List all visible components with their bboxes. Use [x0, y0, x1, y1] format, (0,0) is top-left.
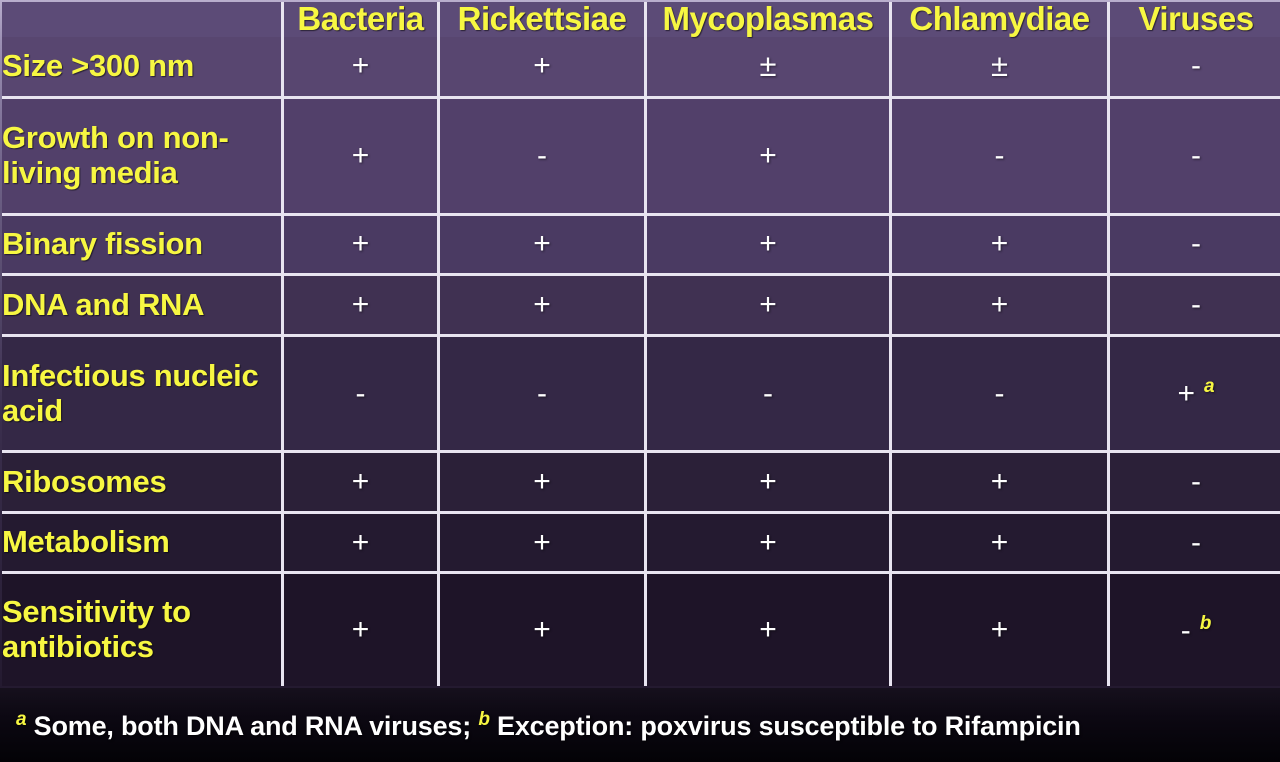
- footnote-marker-a: a: [16, 709, 26, 730]
- mark-value: -: [537, 139, 547, 172]
- cell-size-bacteria: +: [284, 37, 440, 100]
- mark-value: -: [356, 377, 366, 410]
- mark-value: +: [991, 613, 1009, 646]
- cell-size-viruses: -: [1110, 37, 1280, 100]
- mark-value: +: [759, 288, 777, 321]
- cell-dna-rna-viruses: -: [1110, 276, 1280, 337]
- footnote-ref-b: b: [1200, 613, 1212, 634]
- row-label-ribosomes: Ribosomes: [2, 453, 284, 514]
- row-label-size: Size >300 nm: [2, 37, 284, 100]
- cell-metabolism-chlamydiae: +: [892, 514, 1110, 575]
- mark-value: +: [533, 465, 551, 498]
- mark-value: +: [352, 288, 370, 321]
- cell-metabolism-rickettsiae: +: [440, 514, 647, 575]
- cell-size-rickettsiae: +: [440, 37, 647, 100]
- cell-binary-fission-chlamydiae: +: [892, 216, 1110, 277]
- cell-growth-bacteria: +: [284, 99, 440, 215]
- mark-value: -: [1191, 465, 1201, 498]
- cell-infectious-na-viruses: +a: [1110, 337, 1280, 453]
- mark-value: +: [759, 227, 777, 260]
- cell-infectious-na-bacteria: -: [284, 337, 440, 453]
- mark-value: +: [352, 465, 370, 498]
- cell-ribosomes-chlamydiae: +: [892, 453, 1110, 514]
- cell-dna-rna-chlamydiae: +: [892, 276, 1110, 337]
- mark-value: +: [352, 49, 370, 82]
- mark-value: ±: [991, 48, 1008, 83]
- mark-value: +: [759, 139, 777, 172]
- cell-sensitivity-bacteria: +: [284, 574, 440, 686]
- cell-growth-viruses: -: [1110, 99, 1280, 215]
- mark-value: +: [991, 227, 1009, 260]
- mark-value: -: [1191, 526, 1201, 559]
- footnote-ref-a: a: [1204, 376, 1215, 397]
- cell-sensitivity-viruses: -b: [1110, 574, 1280, 686]
- row-label-infectious-nucleic-acid: Infectious nucleic acid: [2, 337, 284, 453]
- cell-sensitivity-mycoplasmas: +: [647, 574, 892, 686]
- comparison-table-container: Bacteria Rickettsiae Mycoplasmas Chlamyd…: [0, 0, 1280, 688]
- column-header-bacteria: Bacteria: [284, 2, 440, 37]
- row-label-metabolism: Metabolism: [2, 514, 284, 575]
- cell-binary-fission-bacteria: +: [284, 216, 440, 277]
- mark-value: +: [352, 139, 370, 172]
- mark-value: -: [1191, 49, 1201, 82]
- mark-value: +: [991, 526, 1009, 559]
- mark-value: +: [991, 465, 1009, 498]
- cell-infectious-na-chlamydiae: -: [892, 337, 1110, 453]
- row-label-sensitivity-to-antibiotics: Sensitivity to antibiotics: [2, 574, 284, 686]
- footnote-marker-b: b: [478, 709, 489, 730]
- table-row: Metabolism + + + + -: [2, 514, 1280, 575]
- cell-sensitivity-rickettsiae: +: [440, 574, 647, 686]
- cell-ribosomes-bacteria: +: [284, 453, 440, 514]
- footnote-text-b: Exception: poxvirus susceptible to Rifam…: [490, 711, 1081, 741]
- table-body: Size >300 nm + + ± ± - Growth on non-liv…: [2, 37, 1280, 686]
- table-header-row: Bacteria Rickettsiae Mycoplasmas Chlamyd…: [2, 2, 1280, 37]
- table-row: Ribosomes + + + + -: [2, 453, 1280, 514]
- cell-infectious-na-rickettsiae: -: [440, 337, 647, 453]
- mark-value: -: [763, 377, 773, 410]
- mark-value: -: [1191, 139, 1201, 172]
- cell-growth-chlamydiae: -: [892, 99, 1110, 215]
- cell-infectious-na-mycoplasmas: -: [647, 337, 892, 453]
- cell-growth-rickettsiae: -: [440, 99, 647, 215]
- mark-value: -: [1191, 288, 1201, 321]
- mark-value: -: [1181, 614, 1191, 647]
- footnote-text: a Some, both DNA and RNA viruses; b Exce…: [16, 709, 1081, 742]
- cell-binary-fission-mycoplasmas: +: [647, 216, 892, 277]
- footnote-text-a: Some, both DNA and RNA viruses;: [26, 711, 478, 741]
- cell-ribosomes-mycoplasmas: +: [647, 453, 892, 514]
- table-row: Binary fission + + + + -: [2, 216, 1280, 277]
- table-row: Growth on non-living media + - + - -: [2, 99, 1280, 215]
- mark-value: -: [995, 377, 1005, 410]
- column-header-mycoplasmas: Mycoplasmas: [647, 2, 892, 37]
- mark-value: +: [352, 526, 370, 559]
- column-header-viruses: Viruses: [1110, 2, 1280, 37]
- column-header-chlamydiae: Chlamydiae: [892, 2, 1110, 37]
- mark-value: +: [352, 613, 370, 646]
- mark-value: +: [352, 227, 370, 260]
- slide-canvas: Bacteria Rickettsiae Mycoplasmas Chlamyd…: [0, 0, 1280, 762]
- mark-value: +: [533, 49, 551, 82]
- mark-value: +: [991, 288, 1009, 321]
- row-label-growth: Growth on non-living media: [2, 99, 284, 215]
- cell-binary-fission-viruses: -: [1110, 216, 1280, 277]
- mark-value: +: [533, 227, 551, 260]
- row-label-dna-and-rna: DNA and RNA: [2, 276, 284, 337]
- footnote-bar: a Some, both DNA and RNA viruses; b Exce…: [0, 688, 1280, 762]
- cell-dna-rna-mycoplasmas: +: [647, 276, 892, 337]
- cell-metabolism-viruses: -: [1110, 514, 1280, 575]
- mark-value: ±: [759, 48, 776, 83]
- mark-value: -: [537, 377, 547, 410]
- cell-binary-fission-rickettsiae: +: [440, 216, 647, 277]
- mark-value: +: [533, 613, 551, 646]
- table-row: Infectious nucleic acid - - - - +a: [2, 337, 1280, 453]
- table-row: Size >300 nm + + ± ± -: [2, 37, 1280, 100]
- mark-value: +: [759, 526, 777, 559]
- cell-dna-rna-bacteria: +: [284, 276, 440, 337]
- comparison-table: Bacteria Rickettsiae Mycoplasmas Chlamyd…: [2, 2, 1280, 686]
- cell-growth-mycoplasmas: +: [647, 99, 892, 215]
- table-row: DNA and RNA + + + + -: [2, 276, 1280, 337]
- mark-value: +: [533, 526, 551, 559]
- mark-value: +: [533, 288, 551, 321]
- cell-ribosomes-viruses: -: [1110, 453, 1280, 514]
- cell-ribosomes-rickettsiae: +: [440, 453, 647, 514]
- mark-value: -: [995, 139, 1005, 172]
- row-label-binary-fission: Binary fission: [2, 216, 284, 277]
- cell-dna-rna-rickettsiae: +: [440, 276, 647, 337]
- cell-size-mycoplasmas: ±: [647, 37, 892, 100]
- column-header-rickettsiae: Rickettsiae: [440, 2, 647, 37]
- mark-value: +: [759, 465, 777, 498]
- table-row: Sensitivity to antibiotics + + + + -b: [2, 574, 1280, 686]
- cell-size-chlamydiae: ±: [892, 37, 1110, 100]
- mark-value: -: [1191, 227, 1201, 260]
- cell-sensitivity-chlamydiae: +: [892, 574, 1110, 686]
- mark-value: +: [759, 613, 777, 646]
- cell-metabolism-mycoplasmas: +: [647, 514, 892, 575]
- cell-metabolism-bacteria: +: [284, 514, 440, 575]
- table-corner-cell: [2, 2, 284, 37]
- mark-value: +: [1177, 377, 1195, 410]
